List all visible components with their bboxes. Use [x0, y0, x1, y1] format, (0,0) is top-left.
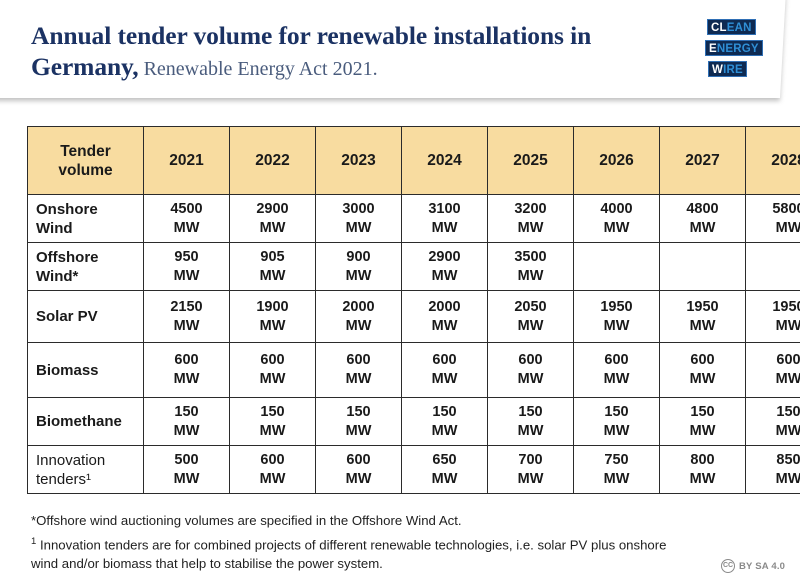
cell-value: 1950 [660, 298, 745, 317]
cell-value: 150 [402, 403, 487, 422]
cell-innovation-2023: 600MW [316, 446, 402, 494]
cell-value: 600 [660, 351, 745, 370]
cell-value: 2050 [488, 298, 573, 317]
cell-biomass-2023: 600MW [316, 343, 402, 398]
row-label-line1: Onshore [36, 200, 142, 219]
cell-value: 600 [230, 351, 315, 370]
cell-value: 4500 [144, 200, 229, 219]
cell-value: 600 [316, 351, 401, 370]
cell-value: 600 [230, 451, 315, 470]
cell-unit: MW [574, 317, 659, 336]
cell-unit: MW [746, 470, 800, 489]
cell-value: 2150 [144, 298, 229, 317]
logo-energy-rest: NERGY [717, 43, 759, 55]
cell-unit: MW [488, 219, 573, 238]
cell-value: 800 [660, 451, 745, 470]
cell-unit: MW [316, 317, 401, 336]
cell-value: 2900 [230, 200, 315, 219]
header-cell-2027: 2027 [660, 127, 746, 195]
cell-solar-2028: 1950MW [746, 291, 800, 343]
cell-unit: MW [574, 370, 659, 389]
clean-energy-wire-logo[interactable]: CLEAN ENERGY WIRE [705, 19, 767, 83]
header-cell-2028: 2028 [746, 127, 800, 195]
cell-innovation-2026: 750MW [574, 446, 660, 494]
cell-offshore-2025: 3500MW [488, 243, 574, 291]
row-label-line2: Wind [36, 219, 142, 238]
row-label-line1: Offshore [36, 248, 142, 267]
cell-solar-2027: 1950MW [660, 291, 746, 343]
table-body: OnshoreWind4500MW2900MW3000MW3100MW3200M… [28, 195, 800, 494]
cell-biomethane-2028: 150MW [746, 398, 800, 446]
footnotes: *Offshore wind auctioning volumes are sp… [31, 511, 691, 575]
cell-unit: MW [230, 370, 315, 389]
cell-solar-2025: 2050MW [488, 291, 574, 343]
cell-unit: MW [402, 470, 487, 489]
cell-innovation-2024: 650MW [402, 446, 488, 494]
cell-unit: MW [488, 370, 573, 389]
cell-solar-2026: 1950MW [574, 291, 660, 343]
cell-onshore-2026: 4000MW [574, 195, 660, 243]
cell-solar-2022: 1900MW [230, 291, 316, 343]
cell-unit: MW [746, 370, 800, 389]
cell-unit: MW [488, 422, 573, 441]
cell-value: 2900 [402, 248, 487, 267]
logo-clean-rest: EAN [727, 22, 752, 34]
cell-unit: MW [316, 370, 401, 389]
cell-value: 5800 [746, 200, 800, 219]
cell-unit: MW [660, 470, 745, 489]
cell-value: 1950 [746, 298, 800, 317]
cell-onshore-2028: 5800MW [746, 195, 800, 243]
cell-unit: MW [746, 219, 800, 238]
cell-value: 2000 [316, 298, 401, 317]
cell-onshore-2021: 4500MW [144, 195, 230, 243]
row-label-biomass: Biomass [28, 343, 144, 398]
header-cell-2025: 2025 [488, 127, 574, 195]
cell-offshore-2028 [746, 243, 800, 291]
logo-line-wire: WIRE [708, 61, 747, 77]
creative-commons-icon: CC [721, 559, 735, 573]
cell-value: 750 [574, 451, 659, 470]
cell-unit: MW [488, 317, 573, 336]
cell-unit: MW [230, 219, 315, 238]
cell-biomass-2022: 600MW [230, 343, 316, 398]
cell-value: 900 [316, 248, 401, 267]
cell-value: 2000 [402, 298, 487, 317]
cell-solar-2021: 2150MW [144, 291, 230, 343]
table-row: Biomethane150MW150MW150MW150MW150MW150MW… [28, 398, 800, 446]
cell-biomethane-2026: 150MW [574, 398, 660, 446]
tender-volume-table: Tender volume 2021 2022 2023 2024 2025 2… [27, 126, 800, 494]
cell-unit: MW [402, 422, 487, 441]
row-label-offshore: OffshoreWind* [28, 243, 144, 291]
cell-unit: MW [144, 219, 229, 238]
title-subtitle-part: Renewable Energy Act 2021. [139, 58, 378, 80]
header-content: Annual tender volume for renewable insta… [0, 0, 800, 100]
row-label-innovation: Innovationtenders¹ [28, 446, 144, 494]
logo-wire-rest: IRE [723, 64, 743, 76]
cell-value: 950 [144, 248, 229, 267]
cell-offshore-2022: 905MW [230, 243, 316, 291]
cell-biomethane-2024: 150MW [402, 398, 488, 446]
cell-value: 3000 [316, 200, 401, 219]
cell-biomethane-2027: 150MW [660, 398, 746, 446]
row-label-line1: Solar PV [36, 307, 142, 326]
page-title: Annual tender volume for renewable insta… [31, 20, 661, 85]
cell-innovation-2028: 850MW [746, 446, 800, 494]
cell-biomass-2025: 600MW [488, 343, 574, 398]
cell-offshore-2021: 950MW [144, 243, 230, 291]
logo-wire-lead: W [712, 64, 723, 76]
logo-clean-lead: CL [711, 22, 727, 34]
title-line-1: Annual tender volume for renewable insta… [31, 20, 661, 51]
header-cell-2023: 2023 [316, 127, 402, 195]
footnote-innovation: 1 Innovation tenders are for combined pr… [31, 532, 691, 574]
cell-unit: MW [574, 422, 659, 441]
table-header: Tender volume 2021 2022 2023 2024 2025 2… [28, 127, 800, 195]
cell-onshore-2024: 3100MW [402, 195, 488, 243]
cell-biomass-2024: 600MW [402, 343, 488, 398]
cell-value: 600 [574, 351, 659, 370]
license-text: BY SA 4.0 [739, 561, 785, 572]
cell-value: 150 [144, 403, 229, 422]
cell-value: 600 [488, 351, 573, 370]
cell-unit: MW [230, 422, 315, 441]
cell-unit: MW [144, 370, 229, 389]
title-bold-part: Germany, [31, 52, 139, 81]
cell-unit: MW [144, 470, 229, 489]
cell-unit: MW [230, 317, 315, 336]
cell-value: 3500 [488, 248, 573, 267]
cell-value: 600 [144, 351, 229, 370]
footnote-offshore: *Offshore wind auctioning volumes are sp… [31, 511, 691, 531]
row-label-onshore: OnshoreWind [28, 195, 144, 243]
cell-biomethane-2022: 150MW [230, 398, 316, 446]
cell-innovation-2025: 700MW [488, 446, 574, 494]
cell-unit: MW [144, 267, 229, 286]
cell-unit: MW [144, 422, 229, 441]
corner-label-line2: volume [28, 161, 143, 180]
header-cell-2021: 2021 [144, 127, 230, 195]
cell-unit: MW [402, 219, 487, 238]
creative-commons-badge: CC BY SA 4.0 [721, 559, 785, 573]
footnote-innovation-text: Innovation tenders are for combined proj… [31, 537, 667, 572]
cell-unit: MW [660, 370, 745, 389]
logo-line-clean: CLEAN [707, 19, 756, 35]
cell-unit: MW [746, 422, 800, 441]
cell-unit: MW [230, 267, 315, 286]
logo-energy-lead: E [709, 43, 717, 55]
cell-value: 600 [746, 351, 800, 370]
cell-biomethane-2025: 150MW [488, 398, 574, 446]
header-cell-2022: 2022 [230, 127, 316, 195]
cell-unit: MW [316, 422, 401, 441]
row-label-line1: Innovation [36, 451, 142, 470]
cell-value: 650 [402, 451, 487, 470]
cell-value: 150 [230, 403, 315, 422]
cell-offshore-2027 [660, 243, 746, 291]
cell-value: 1950 [574, 298, 659, 317]
row-label-line2: tenders¹ [36, 470, 142, 489]
table-row: OnshoreWind4500MW2900MW3000MW3100MW3200M… [28, 195, 800, 243]
cell-biomethane-2021: 150MW [144, 398, 230, 446]
cell-offshore-2023: 900MW [316, 243, 402, 291]
cell-onshore-2023: 3000MW [316, 195, 402, 243]
cell-unit: MW [316, 219, 401, 238]
cell-unit: MW [488, 470, 573, 489]
row-label-line2: Wind* [36, 267, 142, 286]
cell-biomass-2028: 600MW [746, 343, 800, 398]
cell-innovation-2022: 600MW [230, 446, 316, 494]
cell-value: 600 [402, 351, 487, 370]
cell-value: 500 [144, 451, 229, 470]
header-cell-corner: Tender volume [28, 127, 144, 195]
cell-biomass-2027: 600MW [660, 343, 746, 398]
cell-value: 150 [660, 403, 745, 422]
table-row: Innovationtenders¹500MW600MW600MW650MW70… [28, 446, 800, 494]
cell-offshore-2026 [574, 243, 660, 291]
cell-unit: MW [402, 267, 487, 286]
cell-unit: MW [746, 317, 800, 336]
cell-unit: MW [574, 219, 659, 238]
cell-unit: MW [660, 422, 745, 441]
table-header-row: Tender volume 2021 2022 2023 2024 2025 2… [28, 127, 800, 195]
table-row: Solar PV2150MW1900MW2000MW2000MW2050MW19… [28, 291, 800, 343]
cell-onshore-2027: 4800MW [660, 195, 746, 243]
row-label-biomethane: Biomethane [28, 398, 144, 446]
title-line-2: Germany, Renewable Energy Act 2021. [31, 51, 661, 85]
cell-unit: MW [316, 267, 401, 286]
table-row: Biomass600MW600MW600MW600MW600MW600MW600… [28, 343, 800, 398]
cell-value: 150 [316, 403, 401, 422]
cell-solar-2023: 2000MW [316, 291, 402, 343]
cell-value: 4000 [574, 200, 659, 219]
cell-biomethane-2023: 150MW [316, 398, 402, 446]
cell-value: 4800 [660, 200, 745, 219]
table-row: OffshoreWind*950MW905MW900MW2900MW3500MW [28, 243, 800, 291]
cell-value: 600 [316, 451, 401, 470]
cell-value: 850 [746, 451, 800, 470]
cell-solar-2024: 2000MW [402, 291, 488, 343]
row-label-solar: Solar PV [28, 291, 144, 343]
cell-value: 905 [230, 248, 315, 267]
cell-offshore-2024: 2900MW [402, 243, 488, 291]
cell-value: 150 [488, 403, 573, 422]
cell-value: 3100 [402, 200, 487, 219]
corner-label-line1: Tender [28, 142, 143, 161]
cell-biomass-2026: 600MW [574, 343, 660, 398]
cell-value: 700 [488, 451, 573, 470]
cell-unit: MW [402, 317, 487, 336]
cell-value: 150 [574, 403, 659, 422]
row-label-line1: Biomethane [36, 412, 142, 431]
cell-unit: MW [574, 470, 659, 489]
logo-line-energy: ENERGY [705, 40, 763, 56]
cell-value: 3200 [488, 200, 573, 219]
cell-unit: MW [660, 317, 745, 336]
cell-value: 150 [746, 403, 800, 422]
cell-onshore-2025: 3200MW [488, 195, 574, 243]
tender-volume-table-wrapper: Tender volume 2021 2022 2023 2024 2025 2… [27, 126, 745, 494]
cell-unit: MW [230, 470, 315, 489]
cell-unit: MW [316, 470, 401, 489]
cell-unit: MW [488, 267, 573, 286]
cell-value: 1900 [230, 298, 315, 317]
row-label-line1: Biomass [36, 361, 142, 380]
cell-unit: MW [144, 317, 229, 336]
header-cell-2026: 2026 [574, 127, 660, 195]
cell-innovation-2021: 500MW [144, 446, 230, 494]
cell-unit: MW [402, 370, 487, 389]
header-cell-2024: 2024 [402, 127, 488, 195]
cell-innovation-2027: 800MW [660, 446, 746, 494]
cell-unit: MW [660, 219, 745, 238]
cell-biomass-2021: 600MW [144, 343, 230, 398]
cell-onshore-2022: 2900MW [230, 195, 316, 243]
